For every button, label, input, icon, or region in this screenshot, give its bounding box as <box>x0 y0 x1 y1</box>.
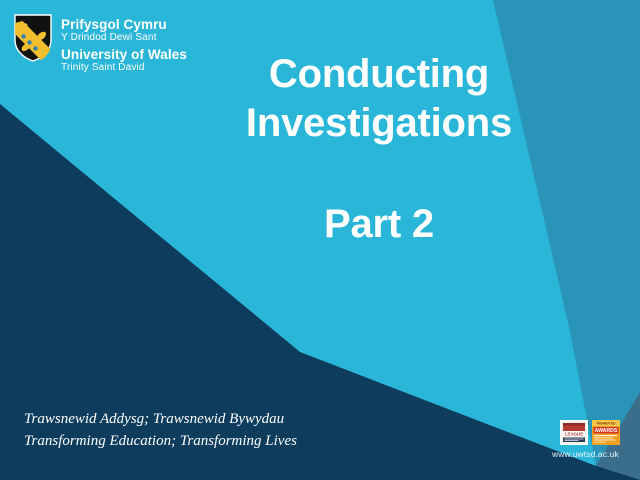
title-line-one: Conducting <box>186 50 572 99</box>
logo-line-trinity-saint-david: Trinity Saint David <box>61 62 187 75</box>
presentation-slide: Prifysgol Cymru Y Drindod Dewi Sant Univ… <box>0 0 640 480</box>
award-badges-group: LEAGUE HIGHER ED AWARDS <box>560 420 620 445</box>
times-higher-education-awards-badge-icon: HIGHER ED AWARDS <box>592 420 620 445</box>
university-crest-icon <box>14 14 52 62</box>
university-logo-text: Prifysgol Cymru Y Drindod Dewi Sant Univ… <box>61 14 187 76</box>
slide-title: Conducting Investigations <box>186 50 572 148</box>
tagline-welsh: Trawsnewid Addysg; Trawsnewid Bywydau <box>24 409 297 430</box>
title-line-two: Investigations <box>186 99 572 148</box>
logo-line-prifysgol-cymru: Prifysgol Cymru <box>61 17 187 32</box>
sunday-times-league-table-badge-icon: LEAGUE <box>560 420 588 445</box>
svg-text:HIGHER ED: HIGHER ED <box>597 421 616 425</box>
logo-line-university-of-wales: University of Wales <box>61 47 187 62</box>
svg-text:AWARDS: AWARDS <box>595 428 618 434</box>
tagline-english: Transforming Education; Transforming Liv… <box>24 431 297 452</box>
website-url[interactable]: www.uwtsd.ac.uk <box>552 449 619 459</box>
slide-part-label: Part 2 <box>186 200 572 248</box>
institution-tagline: Trawsnewid Addysg; Trawsnewid Bywydau Tr… <box>24 409 297 452</box>
logo-line-y-drindod-dewi-sant: Y Drindod Dewi Sant <box>61 32 187 45</box>
university-logo-lockup: Prifysgol Cymru Y Drindod Dewi Sant Univ… <box>14 14 187 76</box>
svg-text:LEAGUE: LEAGUE <box>565 432 583 437</box>
